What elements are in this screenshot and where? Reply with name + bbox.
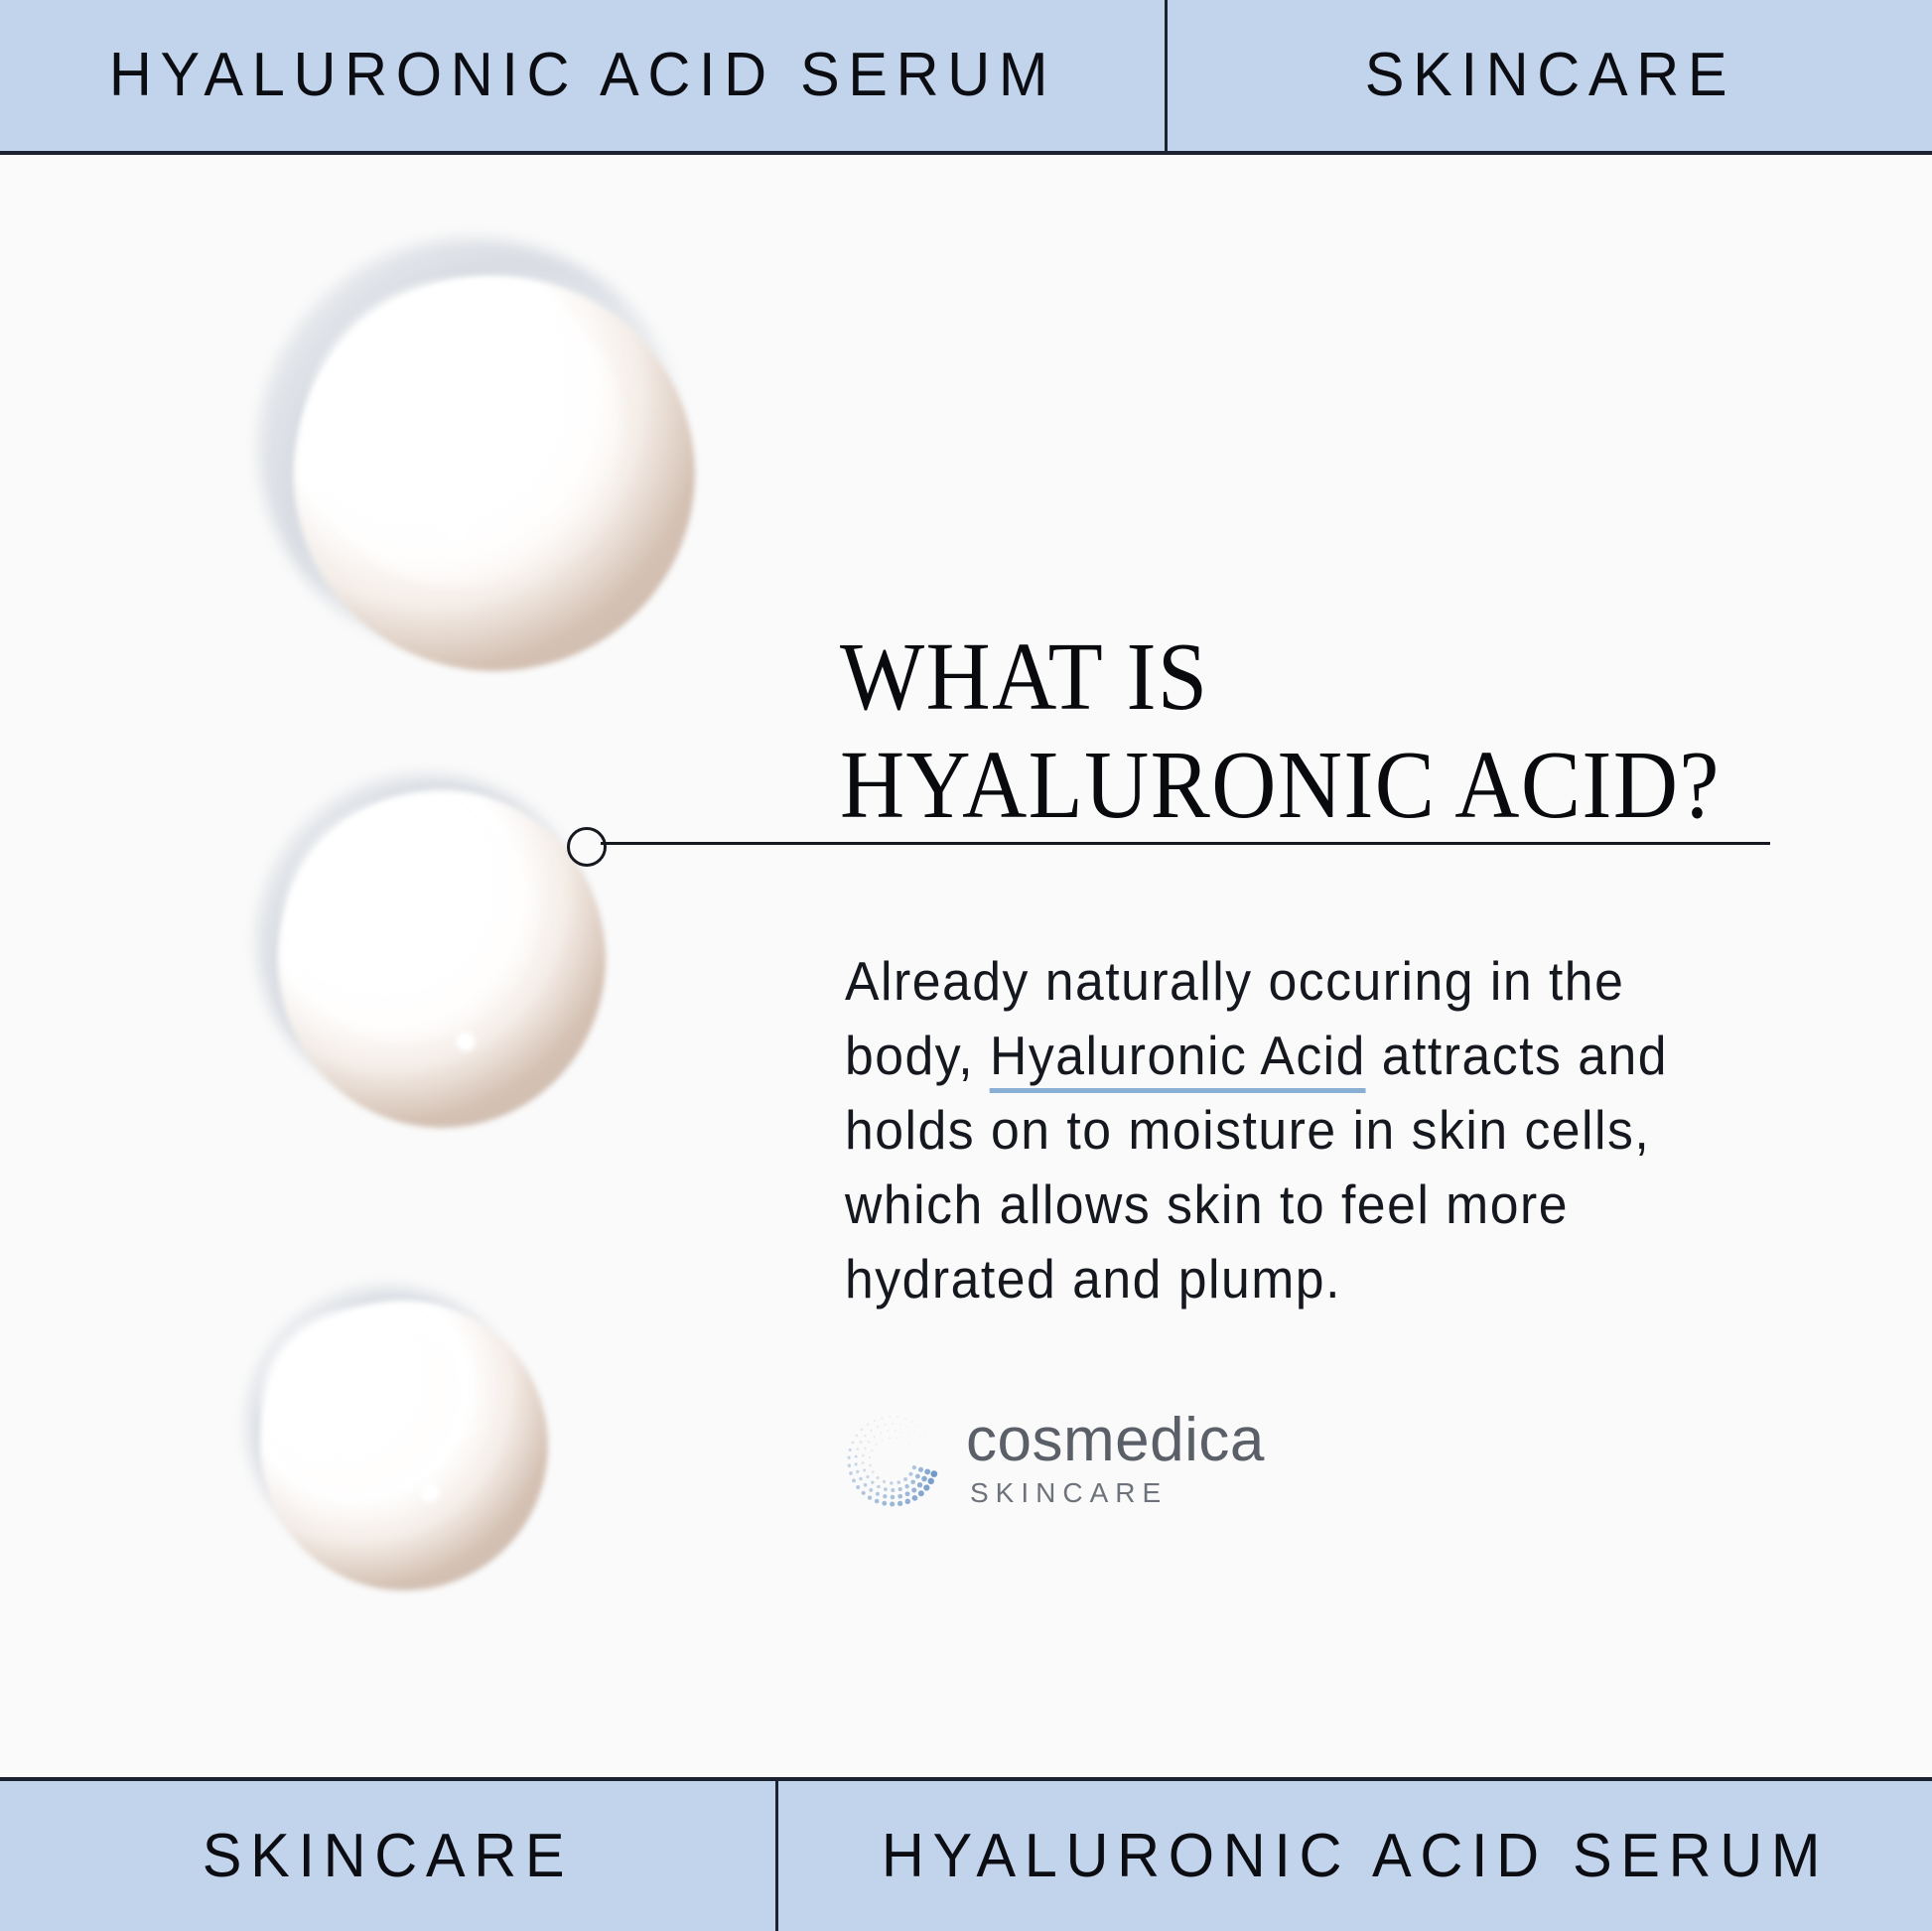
top-banner-left-label: HYALURONIC ACID SERUM (108, 45, 1055, 106)
hyaluronic-acid-highlight: Hyaluronic Acid (990, 1025, 1366, 1093)
connector-rule (601, 842, 1770, 845)
connector-circle (567, 827, 607, 867)
logo-subtitle: SKINCARE (970, 1479, 1265, 1507)
droplet-small-highlight (262, 1309, 457, 1497)
droplet-large-highlight (306, 280, 623, 588)
droplet-large-specular-dot (449, 524, 465, 540)
serum-droplet-large (258, 238, 735, 705)
bottom-banner: SKINCARE HYALURONIC ACID SERUM (0, 1777, 1932, 1931)
top-banner-right-cell: SKINCARE (1168, 0, 1932, 151)
bottom-banner-left-label: SKINCARE (203, 1826, 573, 1887)
bottom-banner-right-cell: HYALURONIC ACID SERUM (778, 1781, 1932, 1931)
body-paragraph: Already naturally occuring in the body, … (845, 944, 1740, 1316)
bottom-banner-right-label: HYALURONIC ACID SERUM (882, 1826, 1829, 1887)
top-banner: HYALURONIC ACID SERUM SKINCARE (0, 0, 1932, 155)
headline-line-2: HYALURONIC ACID? (840, 732, 1763, 840)
page-title: WHAT IS HYALURONIC ACID? (840, 623, 1763, 839)
headline-line-1: WHAT IS (840, 623, 1763, 732)
infographic-canvas: HYALURONIC ACID SERUM SKINCARE WHAT IS H… (0, 0, 1932, 1931)
top-banner-left-cell: HYALURONIC ACID SERUM (0, 0, 1168, 151)
logo-brand-name: cosmedica (966, 1412, 1265, 1468)
droplet-medium-specular-dot (459, 1034, 473, 1048)
top-banner-right-label: SKINCARE (1364, 45, 1734, 106)
bottom-banner-left-cell: SKINCARE (0, 1781, 778, 1931)
logo-wordmark: cosmedica SKINCARE (966, 1412, 1265, 1507)
brand-logo: cosmedica SKINCARE (837, 1404, 1265, 1515)
dotted-spiral-c-icon (837, 1404, 948, 1515)
droplet-small-specular-dot (423, 1485, 437, 1499)
droplet-medium-highlight (286, 800, 538, 1042)
serum-droplet-small (246, 1287, 574, 1614)
